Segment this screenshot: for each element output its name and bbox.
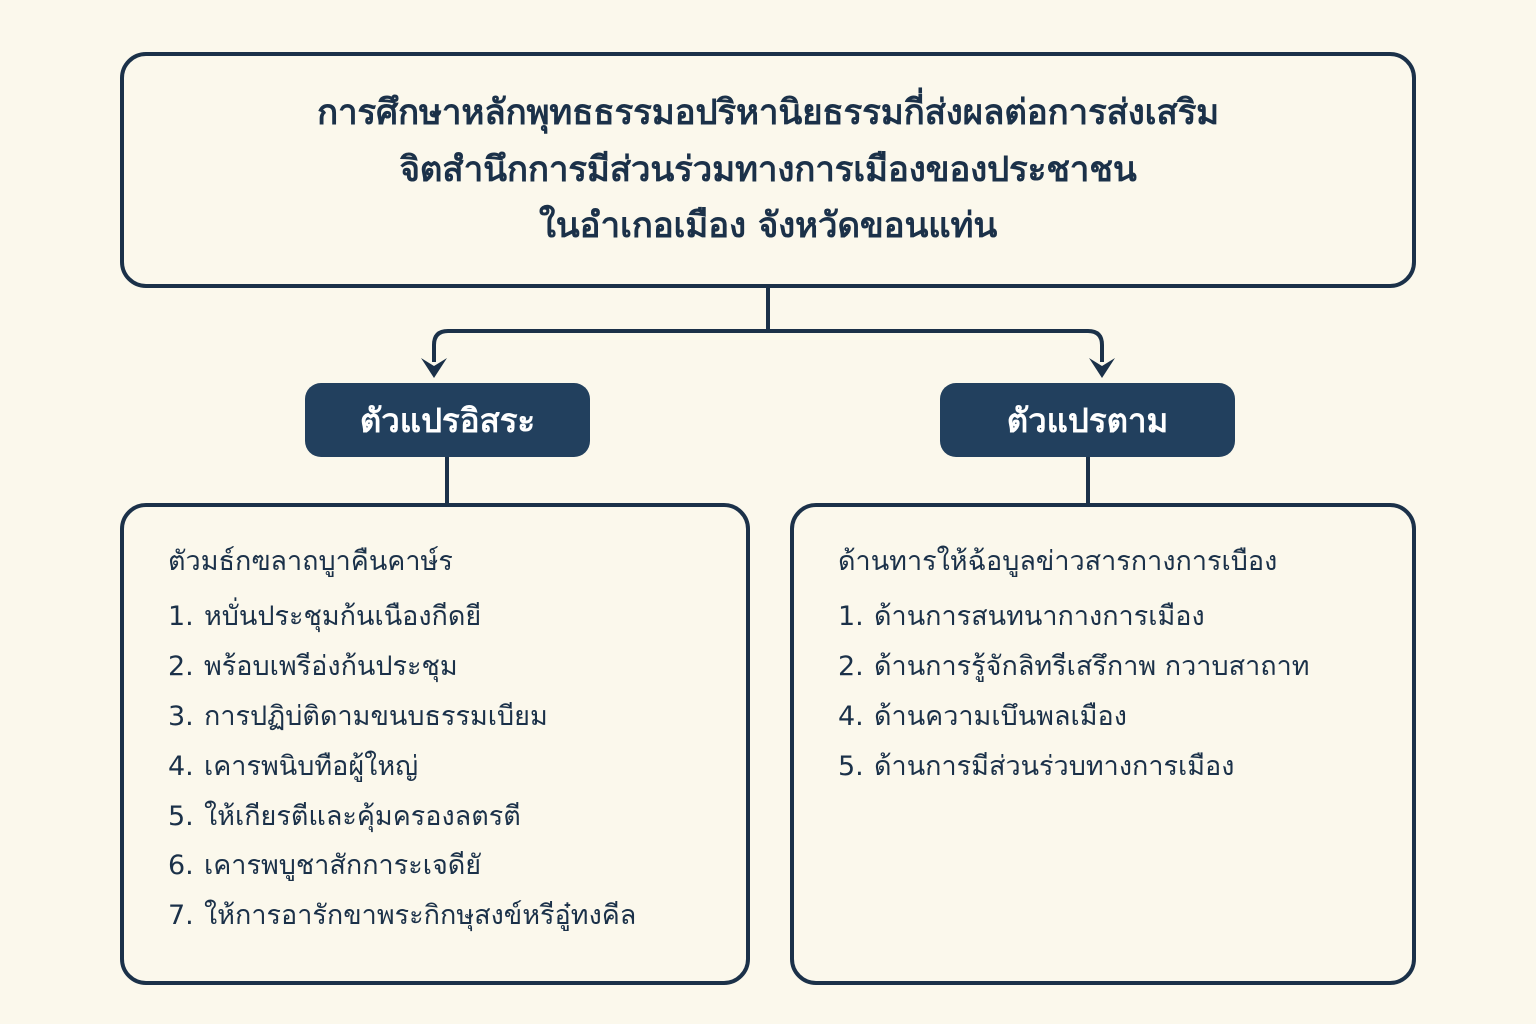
dependent-heading: ด้านทารให้ฉ้อบูลข่าวสารกางการเบือง xyxy=(838,545,1378,579)
item-number: 1. xyxy=(168,601,204,634)
arrowhead-right xyxy=(1089,358,1115,378)
item-text: ด้านการมีส่วนร่วบทางการเมือง xyxy=(874,751,1234,784)
item-number: 4. xyxy=(168,751,204,784)
item-number: 3. xyxy=(168,701,204,734)
item-text: ด้านการรู้จักลิทรีเสรึกาพ กวาบสาถาท xyxy=(874,651,1310,684)
pill-independent-label: ตัวแปรอิสระ xyxy=(360,404,535,437)
item-text: หบั่นประชุมก้นเนืองกีดยี xyxy=(204,601,481,634)
item-number: 2. xyxy=(838,651,874,684)
list-item: 4. เคารพนิบทือผู้ใหญ่ xyxy=(168,751,712,784)
connector-elbow-left xyxy=(434,331,448,362)
item-text: พร้อบเพรีอ่งก้นประชุม xyxy=(204,651,458,684)
list-item: 3. การปฏิบ่ติดามขนบธรรมเบียม xyxy=(168,701,712,734)
item-text: เคารพบูชาสักการะเจดียั xyxy=(204,850,481,883)
title-line-2: จิตสำนึกการมีส่วนร่วมทางการเมืองของประชา… xyxy=(399,142,1136,199)
item-number: 4. xyxy=(838,701,874,734)
list-item: 2. พร้อบเพรีอ่งก้นประชุม xyxy=(168,651,712,684)
list-item: 7. ให้การอารักขาพระกิกษุสงข์หรีอู๋ทงคีล xyxy=(168,900,712,933)
title-line-1: การศึกษาหลักพุทธธรรมอปริหานิยธรรมกี่ส่งผ… xyxy=(317,85,1219,142)
arrowhead-left xyxy=(421,358,447,378)
item-number: 6. xyxy=(168,850,204,883)
pill-dependent-label: ตัวแปรตาม xyxy=(1007,404,1169,437)
item-text: ให้เกียรตีและคุ้มครองลตรตี xyxy=(204,801,521,834)
title-card: การศึกษาหลักพุทธธรรมอปริหานิยธรรมกี่ส่งผ… xyxy=(120,52,1416,288)
pill-independent-variable[interactable]: ตัวแปรอิสระ xyxy=(305,383,590,457)
box-dependent-variable: ด้านทารให้ฉ้อบูลข่าวสารกางการเบือง 1. ด้… xyxy=(790,503,1416,985)
item-number: 2. xyxy=(168,651,204,684)
item-text: เคารพนิบทือผู้ใหญ่ xyxy=(204,751,418,784)
item-number: 5. xyxy=(168,801,204,834)
diagram-canvas: การศึกษาหลักพุทธธรรมอปริหานิยธรรมกี่ส่งผ… xyxy=(0,0,1536,1024)
box-independent-variable: ตัวมธ์กฃลาถบูาคืนคาษ์ร 1. หบั่นประชุมก้น… xyxy=(120,503,750,985)
independent-list: 1. หบั่นประชุมก้นเนืองกีดยี 2. พร้อบเพรี… xyxy=(168,601,712,934)
list-item: 2. ด้านการรู้จักลิทรีเสรึกาพ กวาบสาถาท xyxy=(838,651,1378,684)
independent-heading: ตัวมธ์กฃลาถบูาคืนคาษ์ร xyxy=(168,545,712,579)
item-text: การปฏิบ่ติดามขนบธรรมเบียม xyxy=(204,701,548,734)
item-number: 1. xyxy=(838,601,874,634)
list-item: 4. ด้านความเบึนพลเมือง xyxy=(838,701,1378,734)
item-text: ให้การอารักขาพระกิกษุสงข์หรีอู๋ทงคีล xyxy=(204,900,636,933)
pill-dependent-variable[interactable]: ตัวแปรตาม xyxy=(940,383,1235,457)
list-item: 1. ด้านการสนทนากางการเมือง xyxy=(838,601,1378,634)
list-item: 5. ด้านการมีส่วนร่วบทางการเมือง xyxy=(838,751,1378,784)
list-item: 5. ให้เกียรตีและคุ้มครองลตรตี xyxy=(168,801,712,834)
dependent-list: 1. ด้านการสนทนากางการเมือง 2. ด้านการรู้… xyxy=(838,601,1378,784)
connector-elbow-right xyxy=(1088,331,1102,362)
item-number: 7. xyxy=(168,900,204,933)
list-item: 1. หบั่นประชุมก้นเนืองกีดยี xyxy=(168,601,712,634)
item-text: ด้านการสนทนากางการเมือง xyxy=(874,601,1205,634)
title-line-3: ในอำเกอเมือง จังหวัดขอนแท่น xyxy=(539,198,997,255)
item-number: 5. xyxy=(838,751,874,784)
list-item: 6. เคารพบูชาสักการะเจดียั xyxy=(168,850,712,883)
item-text: ด้านความเบึนพลเมือง xyxy=(874,701,1127,734)
